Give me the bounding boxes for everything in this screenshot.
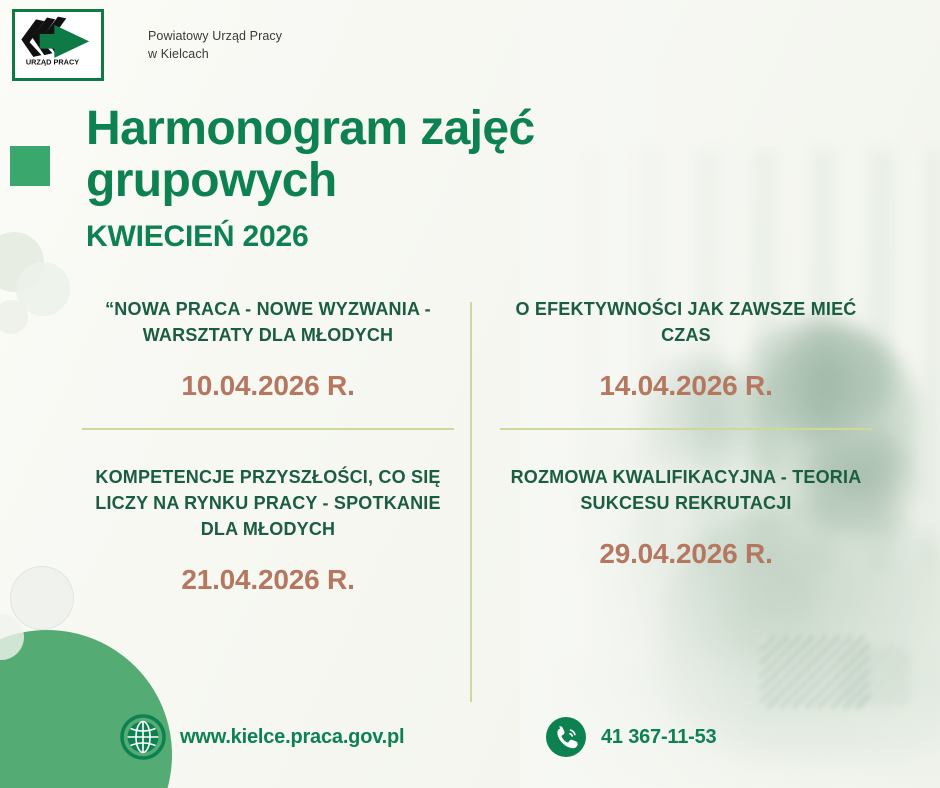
schedule-column-left: “NOWA PRACA - NOWE WYZWANIA - WARSZTATY … — [78, 296, 458, 596]
event-date: 29.04.2026 R. — [496, 538, 876, 570]
event-title: “NOWA PRACA - NOWE WYZWANIA - WARSZTATY … — [78, 296, 458, 348]
logo-caption: URZĄD PRACY — [26, 57, 79, 66]
decorative-bubble — [0, 300, 28, 334]
schedule-event: KOMPETENCJE PRZYSZŁOŚCI, CO SIĘ LICZY NA… — [78, 464, 458, 596]
phone-contact[interactable]: 41 367-11-53 — [545, 716, 716, 758]
schedule-column-right: O EFEKTYWNOŚCI JAK ZAWSZE MIEĆ CZAS 14.0… — [496, 296, 876, 570]
globe-icon — [120, 714, 166, 760]
schedule-event: O EFEKTYWNOŚCI JAK ZAWSZE MIEĆ CZAS 14.0… — [496, 296, 876, 402]
page-subtitle: KWIECIEŃ 2026 — [86, 220, 706, 254]
schedule-event: “NOWA PRACA - NOWE WYZWANIA - WARSZTATY … — [78, 296, 458, 402]
page-title: Harmonogram zajęć grupowych — [86, 103, 706, 207]
title-block: Harmonogram zajęć grupowych KWIECIEŃ 202… — [86, 103, 706, 254]
decorative-bubble — [10, 566, 74, 630]
website-label: www.kielce.praca.gov.pl — [180, 726, 404, 749]
urzad-pracy-logo: URZĄD PRACY — [12, 9, 104, 81]
organization-name: Powiatowy Urząd Pracy w Kielcach — [148, 27, 282, 63]
schedule-event: ROZMOWA KWALIFIKACYJNA - TEORIA SUKCESU … — [496, 464, 876, 570]
org-line-1: Powiatowy Urząd Pracy — [148, 29, 282, 43]
title-line-1: Harmonogram zajęć — [86, 103, 706, 155]
event-title: O EFEKTYWNOŚCI JAK ZAWSZE MIEĆ CZAS — [496, 296, 876, 348]
title-line-2: grupowych — [86, 155, 706, 207]
schedule-grid: “NOWA PRACA - NOWE WYZWANIA - WARSZTATY … — [78, 296, 884, 706]
event-date: 14.04.2026 R. — [496, 370, 876, 402]
column-divider — [470, 302, 472, 702]
event-date: 21.04.2026 R. — [78, 564, 458, 596]
event-title: KOMPETENCJE PRZYSZŁOŚCI, CO SIĘ LICZY NA… — [78, 464, 458, 542]
header: URZĄD PRACY Powiatowy Urząd Pracy w Kiel… — [0, 0, 940, 96]
poster-canvas: URZĄD PRACY Powiatowy Urząd Pracy w Kiel… — [0, 0, 940, 788]
website-contact[interactable]: www.kielce.praca.gov.pl — [120, 714, 404, 760]
event-title: ROZMOWA KWALIFIKACYJNA - TEORIA SUKCESU … — [496, 464, 876, 516]
footer: www.kielce.praca.gov.pl 41 367-11-53 — [0, 696, 940, 788]
event-date: 10.04.2026 R. — [78, 370, 458, 402]
org-line-2: w Kielcach — [148, 45, 282, 63]
decorative-square — [10, 146, 50, 186]
phone-label: 41 367-11-53 — [601, 726, 716, 749]
phone-icon — [545, 716, 587, 758]
